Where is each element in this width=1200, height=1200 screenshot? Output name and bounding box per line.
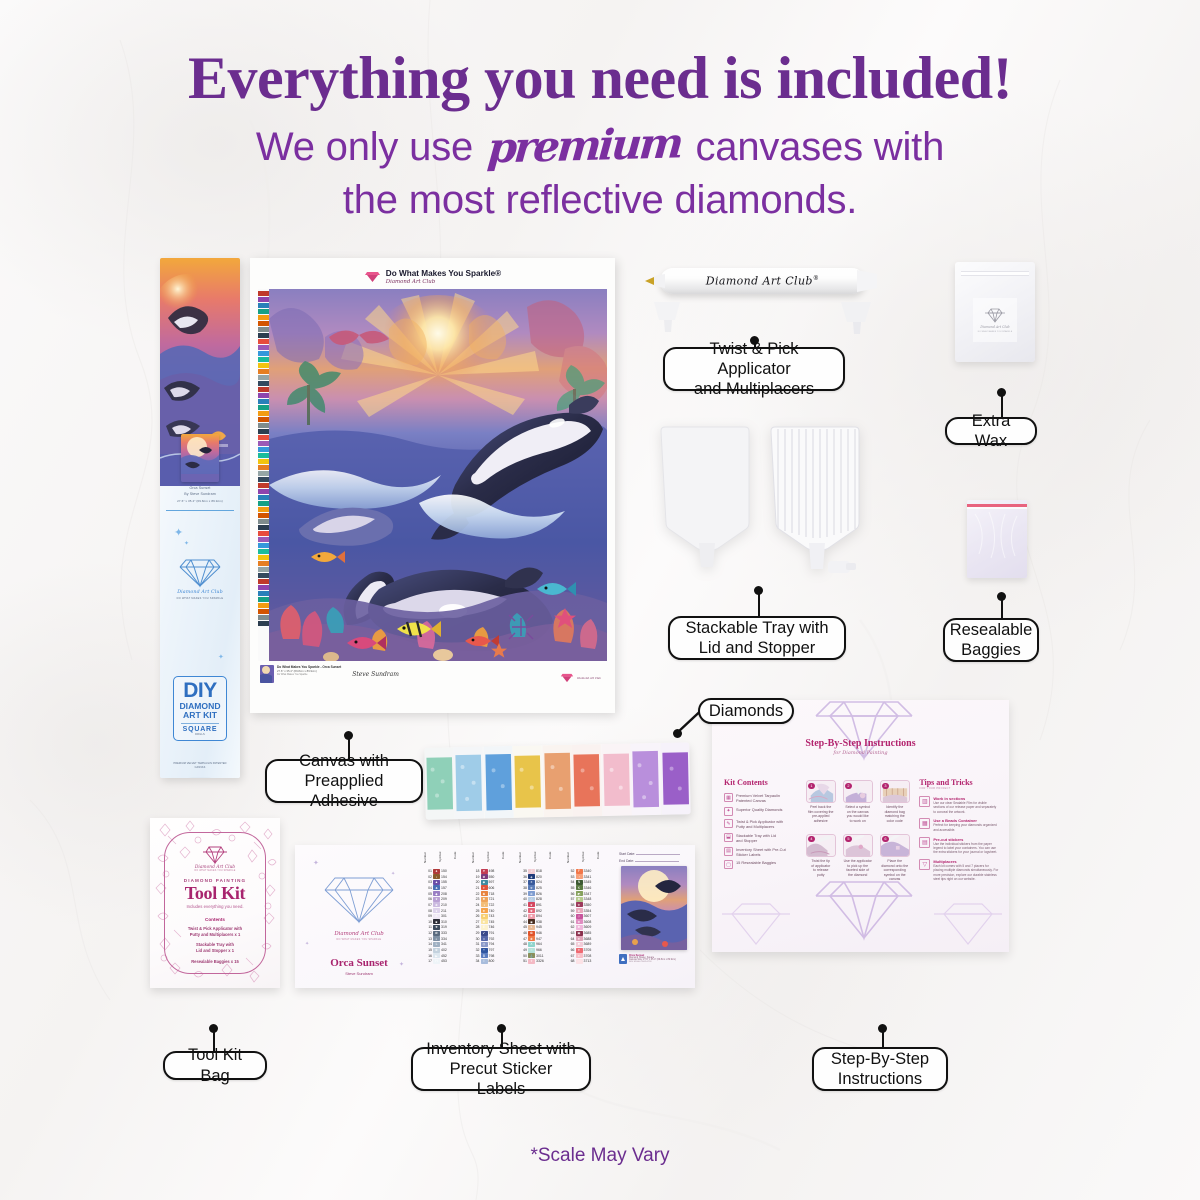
diy-box-artwork-artist: By Steve Sundram xyxy=(160,492,240,497)
inventory-cell-code: 740 xyxy=(489,909,516,913)
step-image: 1 xyxy=(806,780,836,803)
inventory-cell-symbol: ◔ xyxy=(576,874,583,879)
sparkle-icon: ✦ xyxy=(305,941,309,947)
inventory-cell-number: 38 xyxy=(518,886,527,890)
inventory-row: 17H453 xyxy=(423,959,468,964)
inventory-column: Number Symbol Code 52F334053◔334154N3345… xyxy=(566,852,611,983)
inventory-cell-symbol: E xyxy=(481,925,488,930)
inventory-cell-symbol: X xyxy=(528,942,535,947)
inventory-cell-number: 52 xyxy=(566,869,575,873)
inventory-row: 44◉938 xyxy=(518,919,563,924)
inventory-row: 47❃947 xyxy=(518,936,563,941)
kit-contents-item: ▤ Inventory Sheet with Pre-Cut Sticker L… xyxy=(724,847,798,857)
step-caption: Place the diamond onto the corresponding… xyxy=(880,859,910,882)
callout-instructions[interactable]: Step-By-Step Instructions xyxy=(812,1047,948,1091)
inventory-row: 55K3346 xyxy=(566,885,611,890)
inventory-cell-symbol: ❧ xyxy=(528,925,535,930)
subtitle-line-1: We only use premium canvases with xyxy=(0,121,1200,170)
inventory-cell-number: 51 xyxy=(518,959,527,963)
inventory-row: 67✴3708 xyxy=(566,953,611,958)
inventory-cell-number: 37 xyxy=(518,880,527,884)
inventory-header-number: Number xyxy=(423,852,437,868)
inventory-row: 15❁402 xyxy=(423,947,468,952)
inventory-row: 65✸3689 xyxy=(566,942,611,947)
tip-body: Use the individual stickers from the pap… xyxy=(933,842,999,855)
tip-item: ▤ Pre-cut stickers Use the individual st… xyxy=(919,837,999,855)
inventory-row: 07❀210 xyxy=(423,902,468,907)
step-number: 2 xyxy=(845,783,851,789)
inventory-cell-symbol: ✼ xyxy=(576,908,583,913)
work-in-sections-icon: ▥ xyxy=(919,796,930,807)
inventory-row: 56◩3347 xyxy=(566,891,611,896)
inventory-cell-symbol: ✔ xyxy=(481,931,488,936)
inventory-footer-sku: SKU 62000-75502-0793 xyxy=(629,961,676,963)
diamond-baggie xyxy=(424,747,455,820)
inventory-cell-number: 46 xyxy=(518,931,527,935)
inventory-cell-symbol: ✺ xyxy=(528,908,535,913)
inventory-cell-symbol: □ xyxy=(481,936,488,941)
inventory-cell-code: 718 xyxy=(489,892,516,896)
diamond-baggie xyxy=(542,745,573,818)
inventory-color-table: Number Symbol Code 01♠15002♪15403▲15504♣… xyxy=(423,845,613,988)
inventory-cell-number: 21 xyxy=(471,886,480,890)
inventory-cell-symbol: ❀ xyxy=(433,902,440,907)
inventory-cell-code: 3350 xyxy=(584,903,611,907)
beads-container-icon: ▦ xyxy=(919,818,930,829)
diy-drill-sub: DRILLS xyxy=(181,733,219,737)
inventory-cell-number: 06 xyxy=(423,897,432,901)
inventory-cell-code: 211 xyxy=(441,909,468,913)
inventory-cell-symbol: ❋ xyxy=(576,925,583,930)
tip-item: ▥ Work in sections Use our clear Sealabl… xyxy=(919,796,999,814)
inventory-cell-symbol: J xyxy=(528,869,535,874)
product-tool-kit-bag[interactable]: Diamond Art Club DO WHAT MAKES YOU SPARK… xyxy=(150,818,280,988)
inventory-cell-number: 12 xyxy=(423,931,432,935)
inventory-row: 21✦606 xyxy=(471,885,516,890)
inventory-cell-number: 63 xyxy=(566,931,575,935)
instructions-columns: Kit Contents ▦ Premium Velvet Tarpaulin … xyxy=(724,778,999,886)
tips-subtitle: FOR YOUR PROJECT xyxy=(919,787,999,790)
canvas-artist-signature: Steve Sundram xyxy=(352,671,399,678)
inventory-row: 46❂946 xyxy=(518,931,563,936)
diy-drill-type: SQUARE xyxy=(181,726,219,733)
inventory-cell-code: 966 xyxy=(536,948,563,952)
baggie-creases xyxy=(967,500,1027,578)
inventory-row: 18♥498 xyxy=(471,869,516,874)
toolkit-item: Twist & Pick Applicator with Putty and M… xyxy=(188,926,242,938)
inventory-cell-number: 58 xyxy=(566,903,575,907)
wax-bag-zip xyxy=(961,271,1029,276)
step-image: 3 xyxy=(880,780,910,803)
inventory-row: 25❄740 xyxy=(471,908,516,913)
inventory-cell-code: 606 xyxy=(489,886,516,890)
inventory-cell-symbol: ❂ xyxy=(528,931,535,936)
product-diy-kit-box[interactable]: Orca Sunset By Steve Sundram 27.6" x 35.… xyxy=(160,258,240,778)
subtitle-text-before: We only use xyxy=(256,125,473,169)
callout-applicator[interactable]: Twist & Pick Applicator and Multiplacers xyxy=(663,347,845,391)
inventory-cell-symbol: ❁ xyxy=(481,874,488,879)
inventory-header-number: Number xyxy=(471,852,485,868)
premium-script-word: premium xyxy=(482,118,687,172)
inventory-cell-symbol: ✶ xyxy=(528,880,535,885)
product-extra-wax-bag[interactable]: Diamond Art Club DO WHAT MAKES YOU SPARK… xyxy=(955,262,1035,362)
inventory-cell-number: 64 xyxy=(566,937,575,941)
tip-item: ▽ Multiplacers Each kit comes with 5 and… xyxy=(919,859,999,881)
inventory-cell-code: 947 xyxy=(536,937,563,941)
inventory-row: 33B798 xyxy=(471,953,516,958)
inventory-cell-number: 60 xyxy=(566,914,575,918)
inventory-cell-code: 818 xyxy=(536,869,563,873)
inventory-cell-symbol: ✦ xyxy=(481,885,488,890)
multiplacer-icon xyxy=(648,300,688,334)
inventory-cell-number: 09 xyxy=(423,914,432,918)
baggie-seal xyxy=(967,507,1027,509)
diamond-baggie xyxy=(571,744,602,817)
inventory-row: 13◐334 xyxy=(423,936,468,941)
product-tray-lid[interactable] xyxy=(655,425,760,570)
diy-canvas-note: PREMIUM VELVET TARPAULIN PATENTED CANVAS xyxy=(160,762,240,769)
inventory-cell-code: 3345 xyxy=(584,880,611,884)
inventory-column-headers: Number Symbol Code xyxy=(518,852,563,868)
inventory-row: 63▣3685 xyxy=(566,931,611,936)
inventory-header-code: Code xyxy=(501,852,515,868)
diamond-logo-icon xyxy=(321,875,397,930)
inventory-cell-code: 3705 xyxy=(584,948,611,952)
inventory-row: 01♠150 xyxy=(423,869,468,874)
inventory-cell-symbol: L xyxy=(433,942,440,947)
inventory-column: Number Symbol Code 35J81836◈82037✶82438✵… xyxy=(518,852,563,983)
inventory-cell-code: 826 xyxy=(536,892,563,896)
toolkit-brand-tagline: DO WHAT MAKES YOU SPARKLE xyxy=(195,870,236,872)
inventory-cell-symbol: ⚘ xyxy=(528,959,535,964)
instruction-step: 3 Identify the diamond bag matching the … xyxy=(880,780,910,828)
inventory-artist: Steve Sundram xyxy=(295,971,423,976)
kit-contents-item: ⬓ Stackable Tray with Lid and Stopper xyxy=(724,833,798,843)
inventory-cell-code: 824 xyxy=(536,880,563,884)
callout-extra-wax[interactable]: Extra Wax xyxy=(945,417,1037,445)
inventory-row: 04♣157 xyxy=(423,885,468,890)
inventory-row: 50⚓3011 xyxy=(518,953,563,958)
product-tray-stopper[interactable] xyxy=(828,555,858,577)
tips-column: Tips and Tricks FOR YOUR PROJECT ▥ Work … xyxy=(919,778,999,886)
inventory-cell-code: 597 xyxy=(489,880,516,884)
sparkle-icon: ✦ xyxy=(218,653,224,661)
inventory-cell-number: 18 xyxy=(471,869,480,873)
inventory-header-code: Code xyxy=(453,852,467,868)
inventory-cell-code: 209 xyxy=(441,897,468,901)
inventory-cell-code: 3347 xyxy=(584,892,611,896)
canvas-footer-brand: Diamond Art Club xyxy=(577,677,601,680)
callout-resealable-baggies[interactable]: Resealable Baggies xyxy=(943,618,1039,662)
inventory-cell-symbol: ◆ xyxy=(481,880,488,885)
product-applicator-pen[interactable]: Diamond Art Club® xyxy=(660,268,865,294)
inventory-row: 49○966 xyxy=(518,947,563,952)
canvas-header: Do What Makes You Sparkle® Diamond Art C… xyxy=(258,265,607,289)
toolkit-subtitle: Includes everything you need. xyxy=(186,904,243,909)
inventory-row: 10■310 xyxy=(423,919,468,924)
diamond-logo-icon xyxy=(201,846,229,864)
multiplacer-icon xyxy=(835,300,879,336)
tips-title: Tips and Tricks xyxy=(919,778,999,787)
inventory-cell-code: 3608 xyxy=(584,920,611,924)
instruction-step: 4 Twist the tip of applicator to release… xyxy=(806,834,836,886)
diamond-logo-icon xyxy=(984,308,1006,323)
inventory-cell-code: 964 xyxy=(536,942,563,946)
step-caption: Peel back the film covering the pre-appl… xyxy=(806,805,836,823)
inventory-cell-number: 45 xyxy=(518,925,527,929)
kit-contents-title: Kit Contents xyxy=(724,778,798,787)
diy-box-brand-tagline: DO WHAT MAKES YOU SPARKLE xyxy=(160,597,240,601)
inventory-cell-number: 50 xyxy=(518,954,527,958)
canvas-artwork-image xyxy=(269,289,607,661)
inventory-cell-number: 56 xyxy=(566,892,575,896)
inventory-cell-number: 65 xyxy=(566,942,575,946)
diy-label: DIY xyxy=(174,681,226,702)
instructions-title: Step-By-Step Instructions xyxy=(712,738,1009,749)
inventory-row: 41❦891 xyxy=(518,902,563,907)
instruction-step: 2 Select a symbol on the canvas you woul… xyxy=(843,780,873,828)
inventory-cell-number: 35 xyxy=(518,869,527,873)
inventory-cell-number: 01 xyxy=(423,869,432,873)
inventory-cell-number: 36 xyxy=(518,875,527,879)
inventory-cell-code: 3607 xyxy=(584,914,611,918)
inventory-column-headers: Number Symbol Code xyxy=(566,852,611,868)
inventory-cell-number: 34 xyxy=(471,959,480,963)
pen-cap-icon xyxy=(855,266,881,296)
callout-stackable-tray[interactable]: Stackable Tray with Lid and Stopper xyxy=(668,616,846,660)
inventory-artwork-title: Orca Sunset xyxy=(295,957,423,969)
inventory-cell-symbol: ✿ xyxy=(433,931,440,936)
inventory-cell-number: 15 xyxy=(423,948,432,952)
inventory-row: 05◆208 xyxy=(423,891,468,896)
inventory-cell-number: 42 xyxy=(518,909,527,913)
tip-item: ▦ Use a Beads Container Perfect for keep… xyxy=(919,818,999,832)
inventory-cell-number: 54 xyxy=(566,880,575,884)
inventory-cell-code: 3326 xyxy=(536,959,563,963)
inventory-cell-symbol: ✹ xyxy=(481,897,488,902)
inventory-cell-number: 25 xyxy=(471,909,480,913)
inventory-row: 09A301 xyxy=(423,914,468,919)
callout-canvas[interactable]: Canvas with Preapplied Adhesive xyxy=(265,759,423,803)
inventory-cell-number: 28 xyxy=(471,925,480,929)
inventory-row: 32◓797 xyxy=(471,947,516,952)
diy-box-artwork-title: Orca Sunset xyxy=(160,486,240,491)
inventory-cell-code: 402 xyxy=(441,948,468,952)
callout-tool-kit-bag[interactable]: Tool Kit Bag xyxy=(163,1051,267,1080)
kit-contents-item: ✎ Twist & Pick Applicator with Putty and… xyxy=(724,819,798,829)
inventory-column: Number Symbol Code 18♥49819❁55020◆59721✦… xyxy=(471,852,516,983)
inventory-cell-number: 10 xyxy=(423,920,432,924)
inventory-cell-number: 02 xyxy=(423,875,432,879)
inventory-cell-symbol: ▲ xyxy=(433,880,440,885)
inventory-cell-symbol: △ xyxy=(528,897,535,902)
inventory-row: 24◑722 xyxy=(471,902,516,907)
inventory-cell-code: 150 xyxy=(441,869,468,873)
step-number: 4 xyxy=(808,836,814,842)
inventory-cell-symbol: ❄ xyxy=(481,908,488,913)
inventory-cell-symbol: N xyxy=(576,880,583,885)
inventory-row: 16▶452 xyxy=(423,953,468,958)
inventory-cell-number: 53 xyxy=(566,875,575,879)
step-caption: Identify the diamond bag matching the co… xyxy=(880,805,910,823)
inventory-column-headers: Number Symbol Code xyxy=(423,852,468,868)
sparkle-icon: ✦ xyxy=(184,540,189,547)
inventory-row: 02♪154 xyxy=(423,874,468,879)
inventory-cell-code: 3708 xyxy=(584,954,611,958)
inventory-artwork-thumbnail xyxy=(621,866,687,950)
canvas-color-key-strip xyxy=(258,289,269,661)
inventory-cell-number: 16 xyxy=(423,954,432,958)
product-canvas[interactable]: Do What Makes You Sparkle® Diamond Art C… xyxy=(250,258,615,713)
inventory-row: 28E746 xyxy=(471,925,516,930)
inventory-row: 30□792 xyxy=(471,936,516,941)
inventory-cell-code: 825 xyxy=(536,886,563,890)
inventory-cell-code: 721 xyxy=(489,897,516,901)
inventory-cell-symbol: ❖ xyxy=(433,925,440,930)
inventory-cell-symbol: I xyxy=(481,959,488,964)
inventory-cell-code: 3689 xyxy=(584,942,611,946)
inventory-cell-symbol: ▣ xyxy=(576,931,583,936)
inventory-header-code: Code xyxy=(596,852,610,868)
inventory-cell-number: 43 xyxy=(518,914,527,918)
step-number: 1 xyxy=(808,783,814,789)
kit-contents-item: ▢ 15 Resealable Baggies xyxy=(724,860,798,869)
inventory-cell-symbol: A xyxy=(433,914,440,919)
inventory-cell-number: 03 xyxy=(423,880,432,884)
inventory-cell-symbol: B xyxy=(481,953,488,958)
inventory-cell-code: 743 xyxy=(489,914,516,918)
inventory-cell-symbol: ✷ xyxy=(576,936,583,941)
inventory-cell-symbol: ✲ xyxy=(528,891,535,896)
inventory-cell-code: 334 xyxy=(441,937,468,941)
inventory-row: 40△828 xyxy=(518,897,563,902)
inventory-cell-code: 3609 xyxy=(584,925,611,929)
inventory-cell-number: 32 xyxy=(471,948,480,952)
kit-contents-column: Kit Contents ▦ Premium Velvet Tarpaulin … xyxy=(724,778,798,886)
inventory-cell-number: 68 xyxy=(566,959,575,963)
inventory-cell-number: 04 xyxy=(423,886,432,890)
inventory-row: 20◆597 xyxy=(471,880,516,885)
inventory-sheet-left-panel: ✦ ✦ ✦ ✦ Diamond Art Club DO WHAT MAKES Y… xyxy=(295,845,423,988)
inventory-cell-number: 62 xyxy=(566,925,575,929)
product-resealable-baggie[interactable] xyxy=(967,500,1027,578)
inventory-cell-number: 11 xyxy=(423,925,432,929)
step-number: 5 xyxy=(845,836,851,842)
inventory-cell-code: 3011 xyxy=(536,954,563,958)
inventory-cell-code: 791 xyxy=(489,931,516,935)
inventory-cell-code: 722 xyxy=(489,903,516,907)
canvas-footer: Do What Makes You Sparkle - Orca Sunset … xyxy=(258,661,607,705)
diamond-logo-icon xyxy=(364,271,381,283)
inventory-cell-number: 66 xyxy=(566,948,575,952)
inventory-cell-symbol: ✱ xyxy=(528,914,535,919)
inventory-cell-number: 26 xyxy=(471,914,480,918)
inventory-cell-number: 61 xyxy=(566,920,575,924)
inventory-row: 62❋3609 xyxy=(566,925,611,930)
baggies-icon: ▢ xyxy=(724,860,733,869)
pre-cut-stickers-icon: ▤ xyxy=(919,837,930,848)
inventory-cell-number: 47 xyxy=(518,937,527,941)
subtitle-text-after: canvases with xyxy=(695,125,944,169)
callout-leader-resealable-baggies xyxy=(1001,596,1003,620)
end-date-field[interactable]: End Date: xyxy=(619,859,689,863)
inventory-cell-number: 05 xyxy=(423,892,432,896)
inventory-cell-symbol: ✳ xyxy=(576,948,583,953)
toolkit-title: Tool Kit xyxy=(185,883,245,904)
inventory-row: 58❈3350 xyxy=(566,902,611,907)
canvas-footer-thumbnail xyxy=(260,665,274,683)
pen-brand-label: Diamond Art Club® xyxy=(706,275,820,288)
subtitle-line-2: the most reflective diamonds. xyxy=(0,178,1200,223)
inventory-row: 68◌3713 xyxy=(566,959,611,964)
inventory-cell-number: 23 xyxy=(471,897,480,901)
start-date-field[interactable]: Start Date: xyxy=(619,852,689,856)
instruction-step: 6 Place the diamond onto the correspondi… xyxy=(880,834,910,886)
diamond-logo-icon xyxy=(560,673,574,683)
inventory-row: 26♣743 xyxy=(471,914,516,919)
step-caption: Select a symbol on the canvas you would … xyxy=(843,805,873,823)
inventory-row: 27✚745 xyxy=(471,919,516,924)
inventory-cell-code: 341 xyxy=(441,942,468,946)
pen-metal-tip-icon xyxy=(645,272,667,290)
inventory-row: 36◈820 xyxy=(518,874,563,879)
inventory-row: 51⚘3326 xyxy=(518,959,563,964)
inventory-row: 48X964 xyxy=(518,942,563,947)
inventory-cell-symbol: ◈ xyxy=(528,874,535,879)
inventory-row: 31◎794 xyxy=(471,942,516,947)
inventory-cell-code: 746 xyxy=(489,925,516,929)
inventory-cell-number: 49 xyxy=(518,948,527,952)
callout-inventory-sheet[interactable]: Inventory Sheet with Precut Sticker Labe… xyxy=(411,1047,591,1091)
toolkit-item: Stackable Tray with Lid and Stopper x 1 xyxy=(196,942,234,954)
inventory-cell-code: 3340 xyxy=(584,869,611,873)
sparkle-icon: ✦ xyxy=(313,859,319,867)
product-instructions-sheet[interactable]: Step-By-Step Instructions for Diamond Pa… xyxy=(712,700,1009,952)
inventory-cell-code: 3341 xyxy=(584,875,611,879)
diy-box-artwork-size: 27.6" x 35.4" (69.8cm x 89.9cm) xyxy=(160,499,240,503)
inventory-cell-code: 828 xyxy=(536,897,563,901)
inventory-cell-symbol: ♥ xyxy=(481,869,488,874)
diamond-baggie xyxy=(454,747,485,820)
inventory-cell-number: 27 xyxy=(471,920,480,924)
inventory-cell-number: 14 xyxy=(423,942,432,946)
inventory-cell-number: 13 xyxy=(423,937,432,941)
product-diamond-baggies[interactable] xyxy=(424,742,690,820)
sparkle-icon: ✦ xyxy=(174,526,183,539)
page-title: Everything you need is included! xyxy=(0,44,1200,113)
inventory-sheet-icon: ▤ xyxy=(724,847,733,856)
inventory-cell-symbol: ♣ xyxy=(481,914,488,919)
product-inventory-sheet[interactable]: ✦ ✦ ✦ ✦ Diamond Art Club DO WHAT MAKES Y… xyxy=(295,845,695,988)
inventory-cell-number: 67 xyxy=(566,954,575,958)
step-number: 6 xyxy=(882,836,888,842)
step-number: 3 xyxy=(882,783,888,789)
inventory-row: 08●211 xyxy=(423,908,468,913)
step-image: 5 xyxy=(843,834,873,857)
inventory-cell-code: 800 xyxy=(489,959,516,963)
inventory-cell-code: 452 xyxy=(441,954,468,958)
inventory-cell-number: 48 xyxy=(518,942,527,946)
diy-kit-text-block: DIY DIAMOND ART KIT SQUARE DRILLS xyxy=(173,676,227,741)
inventory-row: 54N3345 xyxy=(566,880,611,885)
inventory-cell-symbol: ◇ xyxy=(576,914,583,919)
callout-diamonds[interactable]: Diamonds xyxy=(698,698,794,724)
inventory-cell-code: 155 xyxy=(441,880,468,884)
inventory-row: 22✽718 xyxy=(471,891,516,896)
inventory-cell-code: 453 xyxy=(441,959,468,963)
inventory-row: 03▲155 xyxy=(423,880,468,885)
inventory-cell-code: 798 xyxy=(489,954,516,958)
